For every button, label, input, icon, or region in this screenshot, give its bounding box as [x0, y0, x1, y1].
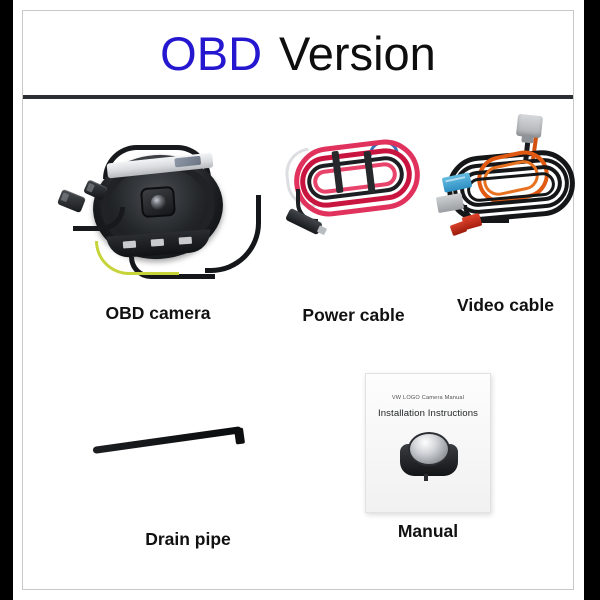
obd-camera-image: OBD camera [33, 107, 283, 337]
manual-cover-subtitle: VW LOGO Camera Manual [366, 395, 490, 401]
item-video-cable: Video cable [423, 107, 588, 322]
title-version-text: Version [279, 27, 436, 80]
video-connector-grey-top [516, 114, 543, 138]
items-row-bottom: Drain pipe VW LOGO Camera Manual Install… [23, 361, 573, 561]
drain-pipe-shaft [93, 426, 243, 454]
coiled-video-harness-icon [437, 119, 582, 249]
manual-cover-photo [398, 430, 460, 480]
power-cable-image: Power cable [266, 117, 441, 327]
camera-lens [150, 194, 166, 210]
coiled-power-cable-icon [280, 129, 430, 249]
page-title: OBDVersion [23, 11, 573, 95]
manual-image: VW LOGO Camera Manual Installation Instr… [303, 361, 553, 556]
drain-pipe-rod-icon [83, 423, 283, 483]
item-label-video-cable: Video cable [423, 295, 588, 316]
title-divider [23, 95, 573, 99]
item-label-power-cable: Power cable [266, 305, 441, 326]
manual-cover-title: Installation Instructions [366, 408, 490, 419]
item-manual: VW LOGO Camera Manual Installation Instr… [303, 361, 553, 556]
item-obd-camera: OBD camera [33, 107, 283, 337]
item-label-obd-camera: OBD camera [33, 303, 283, 324]
content-frame: OBDVersion [22, 10, 574, 590]
emblem-pin [424, 474, 428, 481]
video-cable-image: Video cable [423, 107, 588, 322]
camera-green-wire [95, 241, 179, 275]
product-contents-sheet: OBDVersion [13, 0, 584, 600]
item-drain-pipe: Drain pipe [63, 371, 313, 551]
drain-pipe-image: Drain pipe [63, 371, 313, 551]
camera-lens-bezel [140, 186, 176, 218]
item-power-cable: Power cable [266, 117, 441, 327]
item-label-drain-pipe: Drain pipe [63, 529, 313, 550]
camera-module-icon [55, 137, 260, 287]
manual-cover: VW LOGO Camera Manual Installation Instr… [365, 373, 491, 513]
emblem-dome [408, 432, 450, 466]
video-connector-red-small [450, 221, 468, 236]
manual-booklet-icon: VW LOGO Camera Manual Installation Instr… [365, 373, 491, 515]
item-label-manual: Manual [303, 521, 553, 542]
camera-vent [179, 237, 192, 245]
title-obd-text: OBD [160, 27, 262, 80]
drain-pipe-tip [234, 427, 245, 444]
items-row-top: OBD camera [23, 107, 573, 347]
